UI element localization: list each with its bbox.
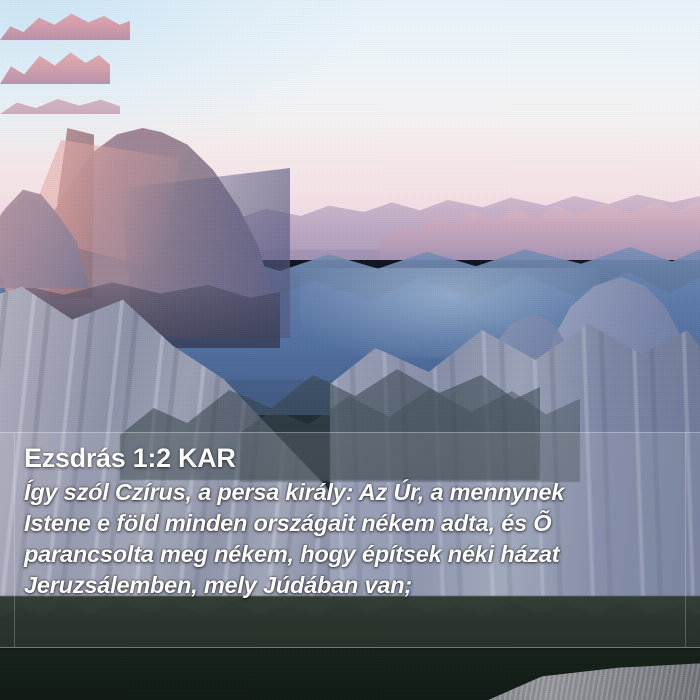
background-photo — [0, 0, 700, 114]
verse-text-line: parancsolta meg nékem, hogy építsek néki… — [24, 539, 682, 570]
verse-text-line: Jeruzsálemben, mely Júdában van; — [24, 570, 682, 601]
verse-text-block: Így szól Czírus, a persa király: Az Úr, … — [24, 477, 682, 601]
verse-overlay-panel: Ezsdrás 1:2 KAR Így szól Czírus, a persa… — [0, 432, 700, 648]
verse-image-canvas: Ezsdrás 1:2 KAR Így szól Czírus, a persa… — [0, 0, 700, 700]
verse-content: Ezsdrás 1:2 KAR Így szól Czírus, a persa… — [24, 441, 682, 601]
verse-reference: Ezsdrás 1:2 KAR — [24, 441, 682, 475]
verse-text-line: Istene e föld minden országait nékem adt… — [24, 508, 682, 539]
verse-text-line: Így szól Czírus, a persa király: Az Úr, … — [24, 477, 682, 508]
